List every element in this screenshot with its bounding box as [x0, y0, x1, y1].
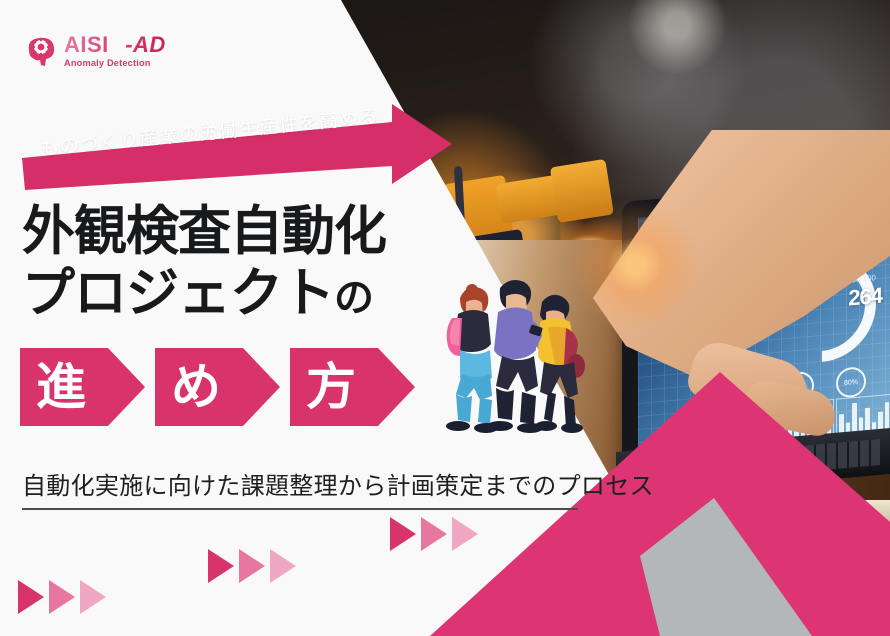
logo-wordmark: AISIA-AD — [64, 34, 166, 56]
page-title-line-2: プロジェクトの — [22, 264, 386, 323]
logo-text-block: AISIA-AD Anomaly Detection — [64, 34, 166, 68]
arrow-trio-bottom-right — [390, 517, 478, 551]
figure-woman-pink-backpack — [446, 284, 498, 433]
chevron-word-group: 進 め 方 — [20, 348, 415, 426]
page-title-line-2-suffix: の — [334, 276, 373, 320]
triangle-icon — [18, 580, 44, 614]
chevron-box-3: 方 — [290, 348, 415, 426]
triangle-icon — [80, 580, 106, 614]
subtitle-divider — [22, 508, 578, 510]
chevron-label-2: め — [171, 362, 221, 412]
chevron-box-1: 進 — [20, 348, 145, 426]
page-title: 外観検査自動化 プロジェクトの — [22, 205, 386, 323]
subtitle: 自動化実施に向けた課題整理から計画策定までのプロセス — [22, 466, 654, 501]
chevron-box-2: め — [155, 348, 280, 426]
logo-tagline: Anomaly Detection — [64, 59, 168, 68]
brain-gear-icon — [24, 34, 58, 68]
logo-wordmark-inverted-a: A — [109, 34, 125, 56]
triangle-icon — [270, 549, 296, 583]
triangle-icon — [49, 580, 75, 614]
page-title-line-2-main: プロジェクト — [22, 264, 334, 323]
ribbon-banner: ものづくり産業の労働生産性を高める — [0, 100, 480, 190]
screen-gauge-value: 264 — [848, 283, 882, 312]
figure-woman-yellow — [535, 295, 585, 433]
page-title-line-1: 外観検査自動化 — [22, 205, 386, 260]
figure-man-with-phone — [487, 280, 543, 433]
logo-wordmark-head: AISI — [64, 32, 109, 57]
triangle-icon — [390, 517, 416, 551]
three-walking-people-illustration — [424, 262, 604, 452]
arrow-trio-bottom-center — [208, 549, 296, 583]
triangle-icon — [452, 517, 478, 551]
arrow-trio-bottom-left — [18, 580, 106, 614]
chevron-label-1: 進 — [36, 362, 86, 412]
triangle-icon — [421, 517, 447, 551]
slide-canvas: Restart on fault Control 38/100 264 60% … — [0, 0, 890, 636]
chevron-label-3: 方 — [306, 362, 356, 412]
logo[interactable]: AISIA-AD Anomaly Detection — [24, 28, 204, 74]
logo-wordmark-tail: -AD — [125, 32, 166, 57]
triangle-icon — [239, 549, 265, 583]
triangle-icon — [208, 549, 234, 583]
